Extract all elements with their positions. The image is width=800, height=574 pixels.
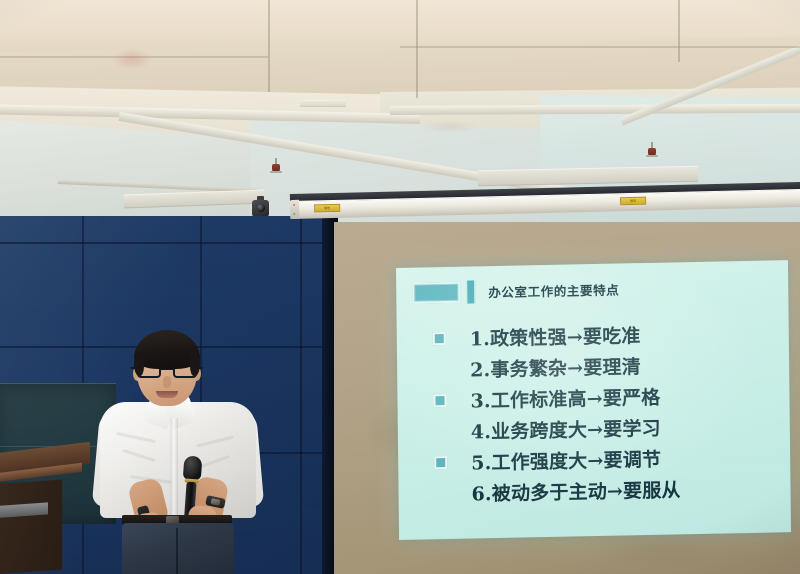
bullet-placeholder	[434, 487, 447, 500]
nose	[163, 376, 171, 388]
ceiling-stain	[420, 120, 480, 134]
bullet-square-icon	[433, 332, 446, 345]
slide-title: 办公室工作的主要特点	[488, 279, 619, 301]
bullet-square-icon	[434, 456, 447, 469]
presenter	[96, 330, 260, 574]
bullet-placeholder	[434, 425, 447, 438]
title-accent-bar	[466, 280, 475, 303]
bullet-square-icon	[433, 394, 446, 407]
mouth	[156, 391, 178, 398]
title-accent-block	[412, 281, 460, 303]
list-item: 6.被动多于主动→要服从	[434, 471, 782, 509]
ceiling-seam	[416, 0, 418, 98]
ceiling-seam	[678, 0, 680, 62]
shirt-placket	[170, 418, 178, 518]
hair-side-right	[190, 352, 200, 376]
projected-slide: 办公室工作的主要特点 1.政策性强→要吃准 2.事务繁杂→要理清 3.工作标准高…	[396, 260, 791, 540]
list-item-label: 3.工作标准高→要严格	[470, 383, 660, 414]
roller-warning-label: 警告	[314, 204, 340, 213]
hair-side-left	[134, 352, 144, 376]
trousers	[122, 523, 234, 574]
slide-bullet-list: 1.政策性强→要吃准 2.事务繁杂→要理清 3.工作标准高→要严格 4.业务跨度…	[433, 316, 783, 509]
roller-warning-label: 警告	[620, 197, 646, 206]
list-item-label: 2.事务繁杂→要理清	[470, 352, 641, 382]
ceiling-seam	[400, 46, 800, 48]
bullet-placeholder	[433, 363, 446, 376]
ceiling-stain	[112, 48, 152, 70]
list-item-label: 6.被动多于主动→要服从	[471, 475, 680, 506]
ceiling-vent-small	[300, 100, 346, 107]
list-item-label: 4.业务跨度大→要学习	[471, 414, 661, 445]
list-item-label: 1.政策性强→要吃准	[470, 321, 641, 351]
ceiling-seam	[268, 0, 270, 92]
presentation-photo: 警告 警告 办公室工作的主要特点 1.政策性强→要吃准 2.事务繁杂→要理清 3…	[0, 0, 800, 574]
slide-title-row: 办公室工作的主要特点	[412, 277, 619, 305]
list-item-label: 5.工作强度大→要调节	[471, 445, 661, 476]
trouser-seam	[176, 528, 178, 574]
lectern	[0, 455, 90, 574]
